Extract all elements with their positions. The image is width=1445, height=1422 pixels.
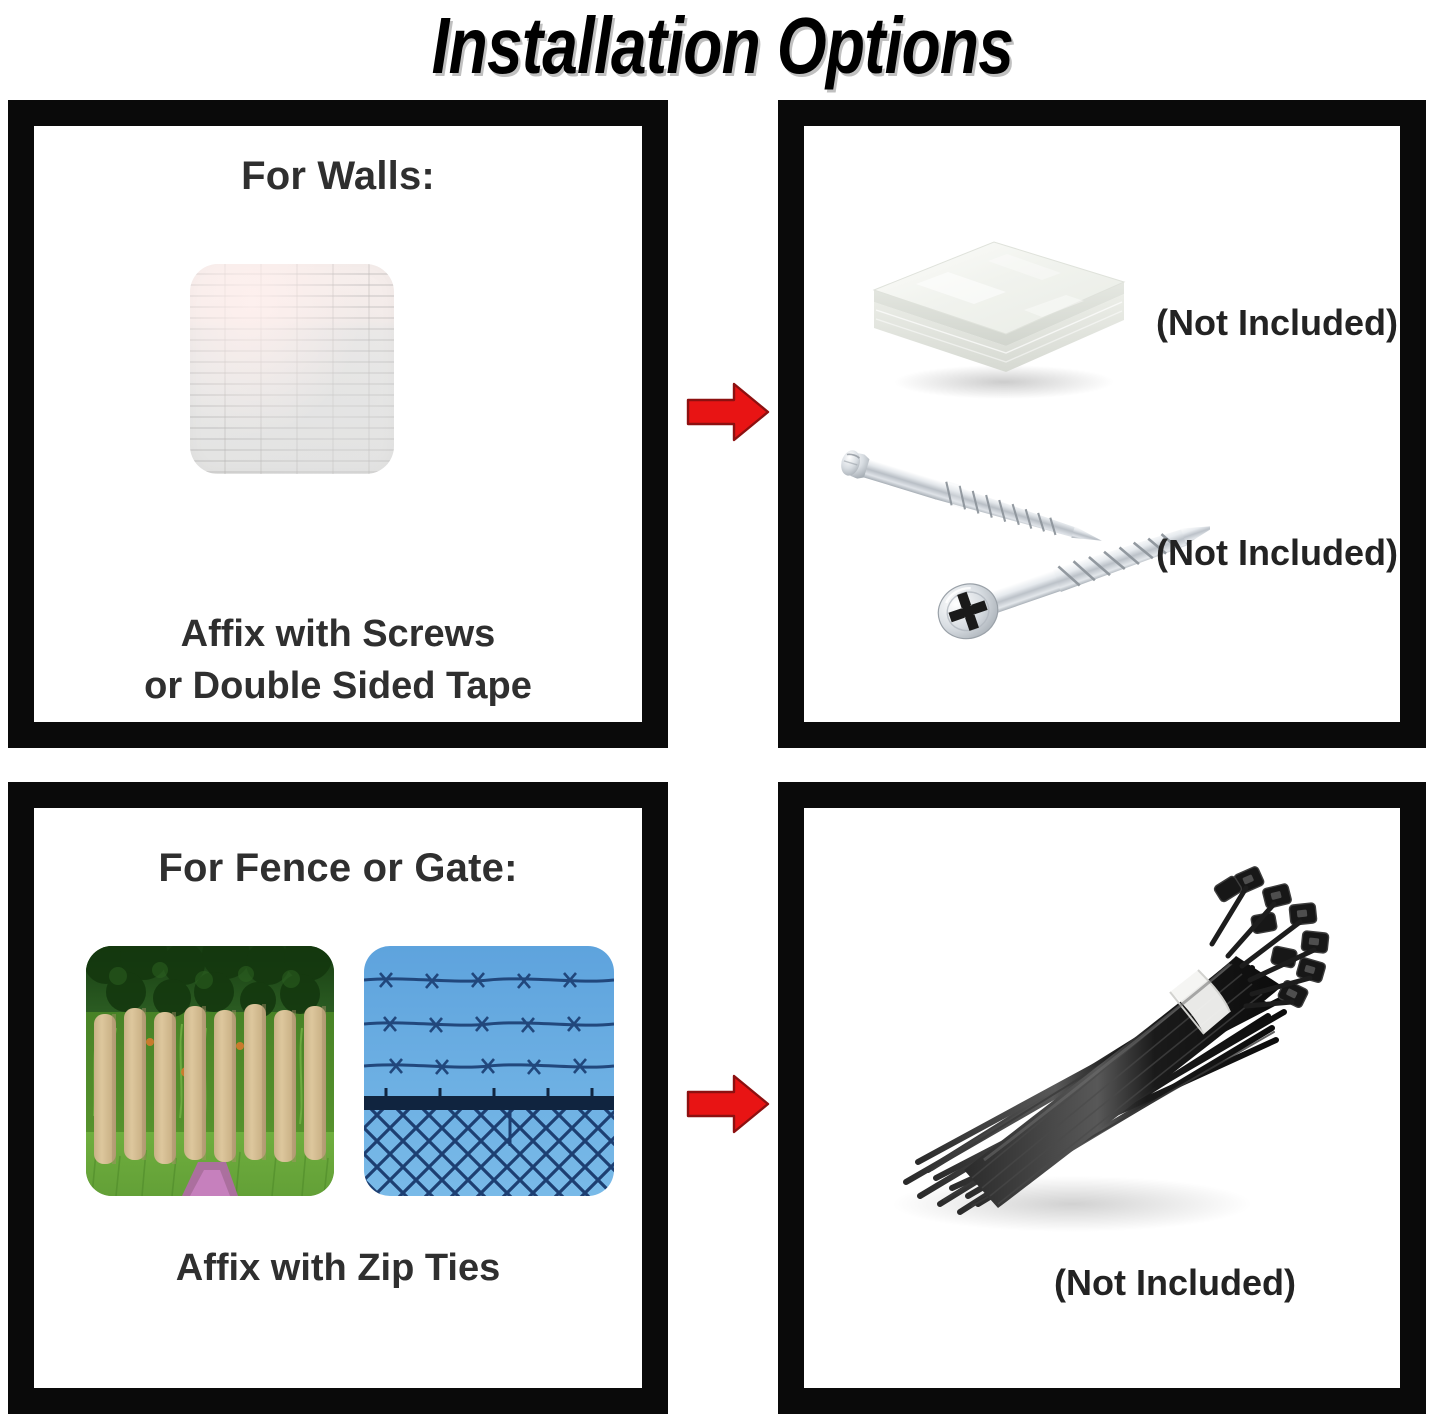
silver-screws-image [830,426,1210,646]
white-brick-wall-image [190,264,394,474]
panel-fence-hardware-content: (Not Included) [804,808,1400,1388]
panel-wall-hardware-content: (Not Included) [804,126,1400,722]
panel-fence-hardware: (Not Included) [778,782,1426,1414]
fence-caption-line-1: Affix with Zip Ties [34,1242,642,1294]
black-zip-ties-image [832,852,1372,1252]
for-walls-heading: For Walls: [34,154,642,199]
panel-for-fence-content: For Fence or Gate: [34,808,642,1388]
wooden-picket-fence-image [86,946,334,1196]
red-right-arrow-top [686,380,770,444]
panel-for-walls-content: For Walls: Affix with Screws or Double S… [34,126,642,722]
chain-link-fence-image [364,946,614,1196]
walls-caption: Affix with Screws or Double Sided Tape [34,608,642,712]
walls-caption-line-1: Affix with Screws [34,608,642,660]
walls-caption-line-2: or Double Sided Tape [34,660,642,712]
ziptie-not-included-label: (Not Included) [1054,1262,1296,1304]
panel-wall-hardware: (Not Included) [778,100,1426,748]
panel-for-fence-or-gate: For Fence or Gate: [8,782,668,1414]
page-title-bar: Installation Options [0,0,1445,92]
for-fence-heading: For Fence or Gate: [34,846,642,891]
panel-grid: For Walls: Affix with Screws or Double S… [0,92,1445,1422]
screws-not-included-label: (Not Included) [1156,532,1398,574]
page-title: Installation Options [432,4,1013,88]
double-sided-tape-stack-image [856,232,1136,402]
red-right-arrow-bottom [686,1072,770,1136]
panel-for-walls: For Walls: Affix with Screws or Double S… [8,100,668,748]
tape-not-included-label: (Not Included) [1156,302,1398,344]
fence-caption: Affix with Zip Ties [34,1242,642,1294]
